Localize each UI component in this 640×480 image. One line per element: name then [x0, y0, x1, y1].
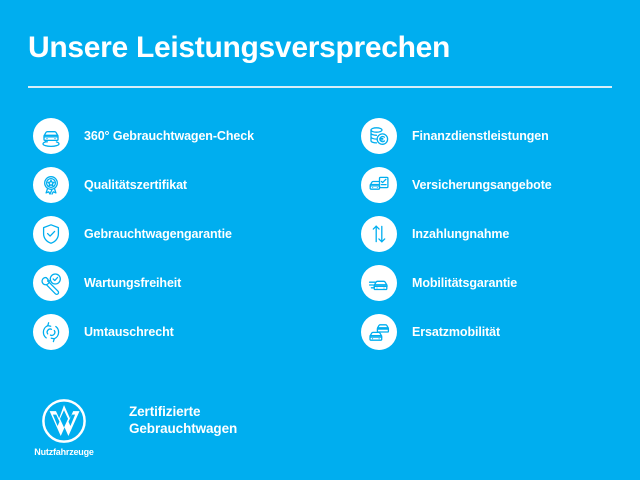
list-item-label: 360° Gebrauchtwagen-Check [84, 129, 254, 143]
footer-tagline-line1: Zertifizierte [129, 403, 237, 420]
title-divider [28, 86, 612, 88]
list-item-label: Gebrauchtwagengarantie [84, 227, 232, 241]
list-item-label: Wartungsfreiheit [84, 276, 181, 290]
benefits-left-column: 360° Gebrauchtwagen-Check Qualitätszerti… [33, 118, 254, 363]
list-item-label: Umtauschrecht [84, 325, 174, 339]
list-item: Versicherungsangebote [361, 167, 552, 203]
shield-check-icon [33, 216, 69, 252]
list-item: Qualitätszertifikat [33, 167, 254, 203]
footer-tagline-line2: Gebrauchtwagen [129, 420, 237, 437]
slide-root: Unsere Leistungsversprechen 360° Ge [0, 0, 640, 480]
list-item-label: Qualitätszertifikat [84, 178, 187, 192]
list-item: Ersatzmobilität [361, 314, 552, 350]
exchange-arrows-icon [33, 314, 69, 350]
list-item: Umtauschrecht [33, 314, 254, 350]
wrench-check-icon [33, 265, 69, 301]
vw-brand-block: Nutzfahrzeuge [28, 398, 100, 457]
list-item: Inzahlungnahme [361, 216, 552, 252]
car-360-check-icon [33, 118, 69, 154]
footer: Nutzfahrzeuge Zertifizierte Gebrauchtwag… [28, 398, 237, 457]
list-item: Gebrauchtwagengarantie [33, 216, 254, 252]
list-item: Wartungsfreiheit [33, 265, 254, 301]
list-item-label: Versicherungsangebote [412, 178, 552, 192]
vw-logo-subtitle: Nutzfahrzeuge [34, 447, 93, 457]
coins-euro-icon [361, 118, 397, 154]
quality-seal-icon [33, 167, 69, 203]
list-item-label: Mobilitätsgarantie [412, 276, 517, 290]
footer-tagline: Zertifizierte Gebrauchtwagen [129, 403, 237, 437]
list-item-label: Ersatzmobilität [412, 325, 500, 339]
two-cars-icon [361, 314, 397, 350]
benefits-right-column: Finanzdienstleistungen Versicheru [361, 118, 552, 363]
car-document-check-icon [361, 167, 397, 203]
list-item: Mobilitätsgarantie [361, 265, 552, 301]
arrows-up-down-icon [361, 216, 397, 252]
page-title: Unsere Leistungsversprechen [28, 29, 450, 67]
list-item-label: Inzahlungnahme [412, 227, 509, 241]
list-item-label: Finanzdienstleistungen [412, 129, 549, 143]
vw-logo-icon [41, 398, 87, 444]
list-item: 360° Gebrauchtwagen-Check [33, 118, 254, 154]
tow-truck-icon [361, 265, 397, 301]
list-item: Finanzdienstleistungen [361, 118, 552, 154]
